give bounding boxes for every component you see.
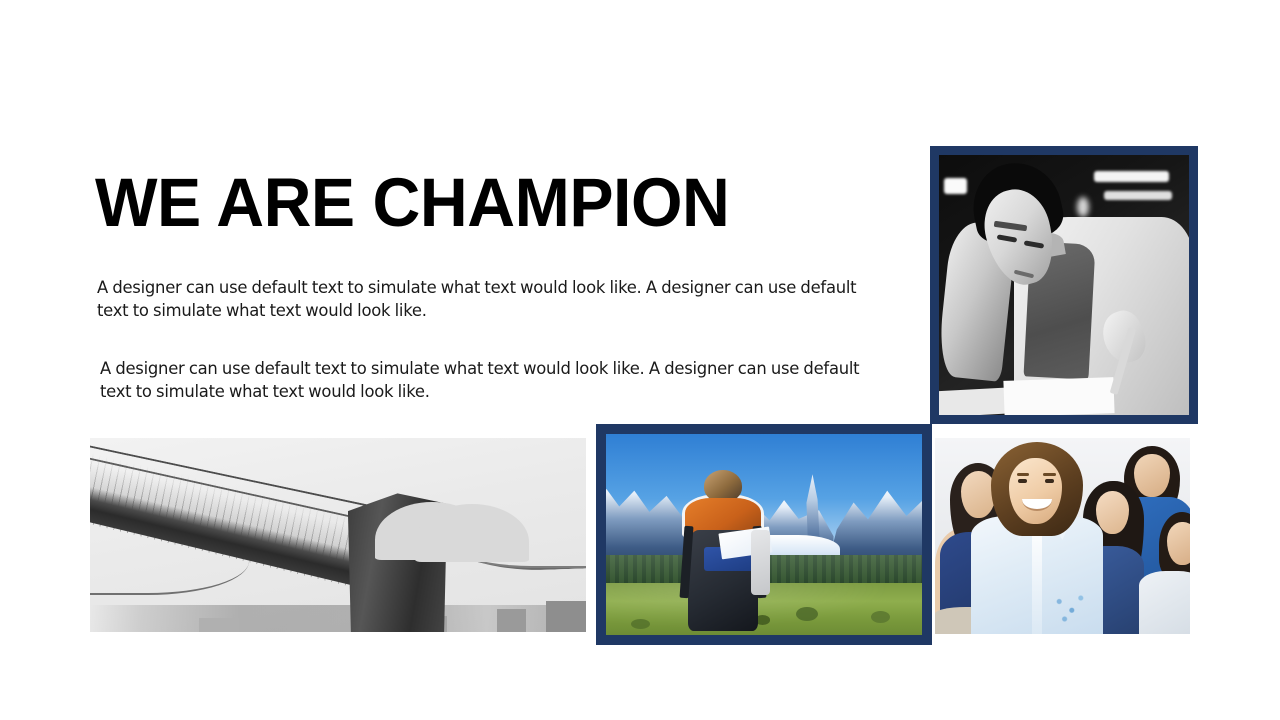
building [546,601,586,632]
paper-sheet [1003,377,1114,415]
person-torso [1139,571,1190,634]
eye [1045,479,1054,483]
eyebrow [1043,473,1056,475]
building [199,618,239,632]
student-writing-photo [939,155,1189,415]
hiker-photo-frame [596,424,932,645]
ceiling-light [1104,191,1172,200]
building [497,609,527,632]
brooklyn-bridge-photo [90,438,586,632]
body-paragraph-1: A designer can use default text to simul… [97,276,867,323]
bush [796,607,818,621]
window-light [944,178,967,194]
hiker-mountains-photo [606,434,922,635]
eye [1018,479,1027,483]
person-face [1134,454,1170,497]
shirt-placket [1032,524,1042,634]
student-photo-frame [930,146,1198,424]
hiker-arm [751,530,770,594]
shirt-print [1052,591,1088,626]
presentation-slide: WE ARE CHAMPION A designer can use defau… [0,0,1280,720]
page-title: WE ARE CHAMPION [95,168,729,237]
bush [631,619,650,629]
ceiling-light [1094,171,1169,183]
body-paragraph-2: A designer can use default text to simul… [100,357,870,404]
eyebrow [1017,473,1030,475]
light-bokeh [1077,197,1090,218]
students-group-photo [935,438,1190,634]
